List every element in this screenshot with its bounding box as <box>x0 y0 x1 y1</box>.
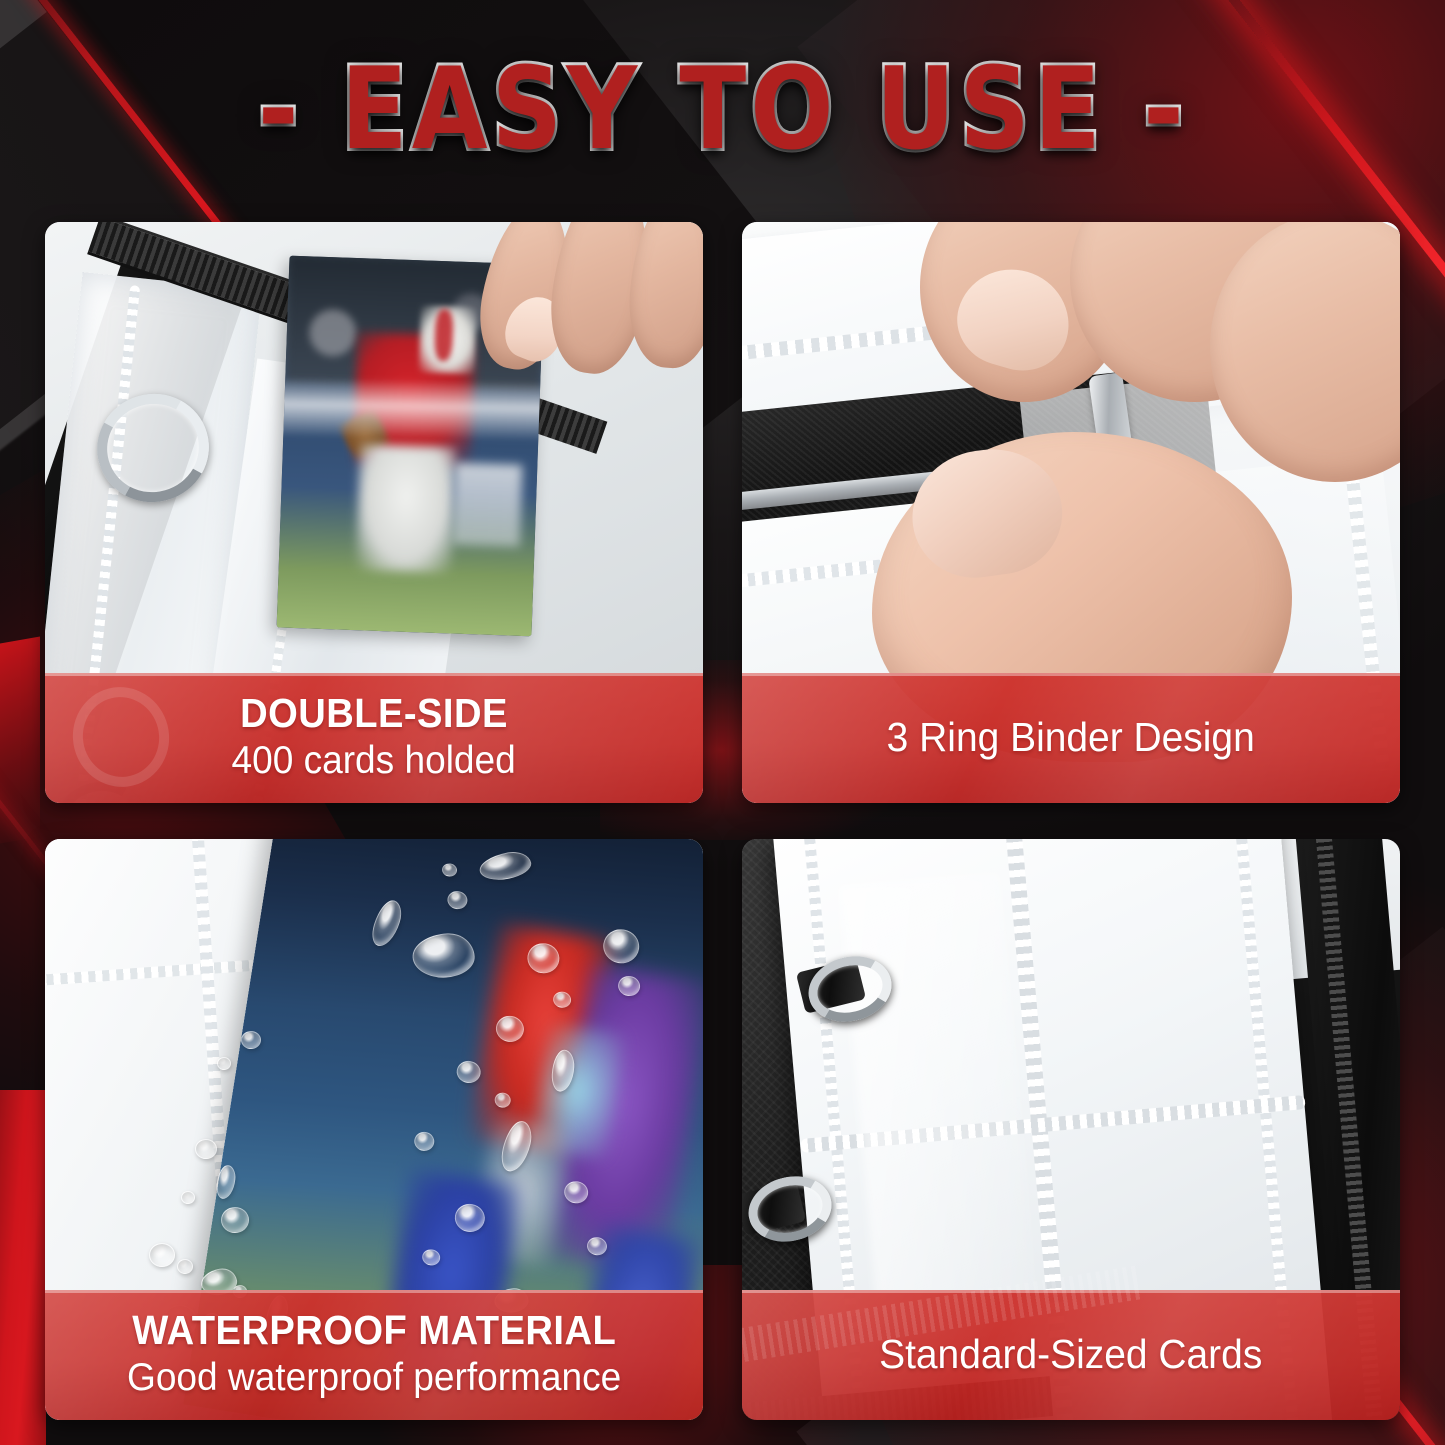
water-droplet <box>177 1259 193 1274</box>
water-droplet <box>217 1057 231 1070</box>
feature-panel-three-ring-binder[interactable]: 3 Ring Binder Design <box>742 222 1400 803</box>
water-droplet <box>181 1191 195 1204</box>
water-droplet <box>149 1243 175 1267</box>
background-red-band-left <box>0 1090 46 1445</box>
caption-subtitle: 400 cards holded <box>232 740 516 783</box>
caption-title: DOUBLE-SIDE <box>240 693 508 735</box>
card-field-number <box>453 462 522 546</box>
feature-panel-double-side[interactable]: DOUBLE-SIDE 400 cards holded <box>45 222 703 803</box>
caption-title: Standard-Sized Cards <box>879 1332 1262 1377</box>
finger-knuckle <box>1210 222 1400 482</box>
caption-banner-standard-sized-cards: Standard-Sized Cards <box>742 1290 1400 1420</box>
caption-subtitle: Good waterproof performance <box>127 1357 621 1400</box>
feature-panel-grid: DOUBLE-SIDE 400 cards holded <box>45 222 1400 1420</box>
feature-panel-waterproof-material[interactable]: WATERPROOF MATERIAL Good waterproof perf… <box>45 839 703 1420</box>
card-player-white-pants <box>355 444 456 574</box>
caption-title: 3 Ring Binder Design <box>887 715 1255 760</box>
background-red-band-left-upper <box>0 636 40 843</box>
caption-banner-double-side: DOUBLE-SIDE 400 cards holded <box>45 673 703 803</box>
card-helmet-stripe <box>434 309 454 362</box>
feature-panel-standard-sized-cards[interactable]: Standard-Sized Cards <box>742 839 1400 1420</box>
caption-banner-three-ring-binder: 3 Ring Binder Design <box>742 673 1400 803</box>
caption-title: WATERPROOF MATERIAL <box>132 1310 616 1352</box>
caption-banner-waterproof-material: WATERPROOF MATERIAL Good waterproof perf… <box>45 1290 703 1420</box>
infographic-canvas: - EASY TO USE - <box>0 0 1445 1445</box>
hand-holding-card <box>463 222 703 412</box>
water-droplet <box>195 1139 217 1159</box>
photo-waterproof-material: WATERPROOF MATERIAL Good waterproof perf… <box>45 839 703 1420</box>
banner-ring-showthrough <box>62 677 179 797</box>
water-droplet <box>241 1031 261 1049</box>
water-droplet <box>221 1207 249 1233</box>
